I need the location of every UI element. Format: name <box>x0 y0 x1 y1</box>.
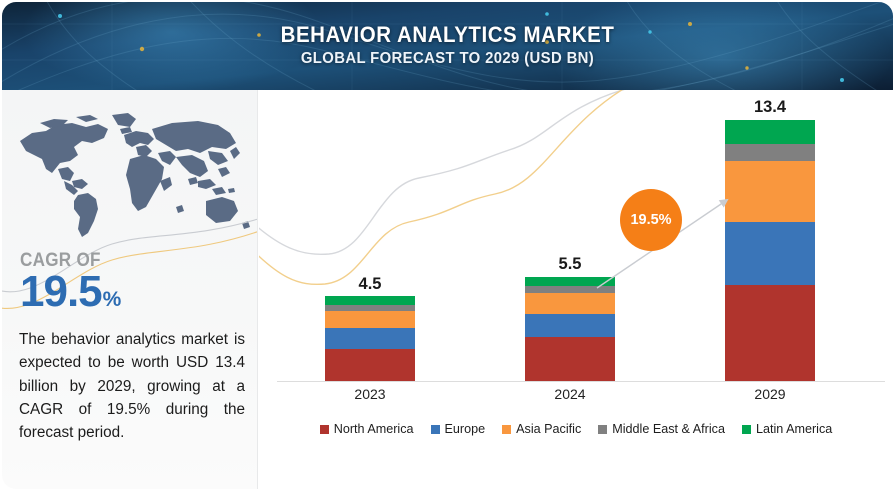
legend-item-middle-east-africa[interactable]: Middle East & Africa <box>598 422 725 436</box>
bar-chart-plot: 4.5 5.5 <box>277 104 877 382</box>
legend-item-asia-pacific[interactable]: Asia Pacific <box>502 422 581 436</box>
x-label-2029: 2029 <box>725 386 815 402</box>
segment-latin-america <box>325 296 415 305</box>
legend-label: Europe <box>445 422 486 436</box>
cagr-label: CAGR OF <box>20 250 111 272</box>
x-label-2024: 2024 <box>525 386 615 402</box>
segment-latin-america <box>525 277 615 286</box>
page-subtitle: GLOBAL FORECAST TO 2029 (USD BN) <box>33 50 862 68</box>
segment-north-america <box>325 349 415 382</box>
segment-asia-pacific <box>525 293 615 314</box>
segment-europe <box>525 314 615 337</box>
chart-pane: 4.5 5.5 <box>259 90 893 489</box>
bar-total-2024: 5.5 <box>559 255 582 274</box>
cagr-percent-sign: % <box>103 288 122 312</box>
segment-middle-east-africa <box>725 144 815 161</box>
header-banner: BEHAVIOR ANALYTICS MARKET GLOBAL FORECAS… <box>2 2 893 90</box>
x-label-2023: 2023 <box>325 386 415 402</box>
header-title-block: BEHAVIOR ANALYTICS MARKET GLOBAL FORECAS… <box>2 22 893 68</box>
page-title: BEHAVIOR ANALYTICS MARKET <box>33 22 862 47</box>
segment-north-america <box>725 285 815 382</box>
bar-group-2024: 5.5 <box>525 104 615 382</box>
segment-north-america <box>525 337 615 382</box>
bar-stack-2024 <box>525 277 615 382</box>
bar-total-2029: 13.4 <box>754 98 786 117</box>
segment-asia-pacific <box>725 161 815 223</box>
x-axis-line <box>277 381 885 382</box>
bar-group-2029: 13.4 <box>725 104 815 382</box>
legend-label: Latin America <box>756 422 832 436</box>
legend-swatch-icon <box>598 425 607 434</box>
legend-swatch-icon <box>502 425 511 434</box>
legend-item-latin-america[interactable]: Latin America <box>742 422 832 436</box>
legend-label: Middle East & Africa <box>612 422 725 436</box>
infographic-root: BEHAVIOR ANALYTICS MARKET GLOBAL FORECAS… <box>0 0 895 501</box>
sidebar: CAGR OF 19.5 % The behavior analytics ma… <box>2 90 258 489</box>
cagr-bubble: 19.5% <box>620 189 682 251</box>
segment-europe <box>325 328 415 349</box>
segment-europe <box>725 222 815 285</box>
legend-label: North America <box>334 422 414 436</box>
bar-stack-2023 <box>325 296 415 382</box>
legend-swatch-icon <box>320 425 329 434</box>
body-card: CAGR OF 19.5 % The behavior analytics ma… <box>2 90 893 489</box>
segment-asia-pacific <box>325 311 415 328</box>
segment-latin-america <box>725 120 815 144</box>
legend-item-europe[interactable]: Europe <box>431 422 486 436</box>
legend-item-north-america[interactable]: North America <box>320 422 414 436</box>
chart-legend: North America Europe Asia Pacific Middle… <box>259 422 893 436</box>
legend-swatch-icon <box>742 425 751 434</box>
legend-label: Asia Pacific <box>516 422 581 436</box>
legend-swatch-icon <box>431 425 440 434</box>
bar-total-2023: 4.5 <box>359 275 382 294</box>
market-description: The behavior analytics market is expecte… <box>19 328 245 444</box>
cagr-value: 19.5 <box>20 270 102 314</box>
cagr-block: CAGR OF 19.5 % <box>20 250 121 314</box>
bar-group-2023: 4.5 <box>325 104 415 382</box>
bar-stack-2029 <box>725 120 815 382</box>
